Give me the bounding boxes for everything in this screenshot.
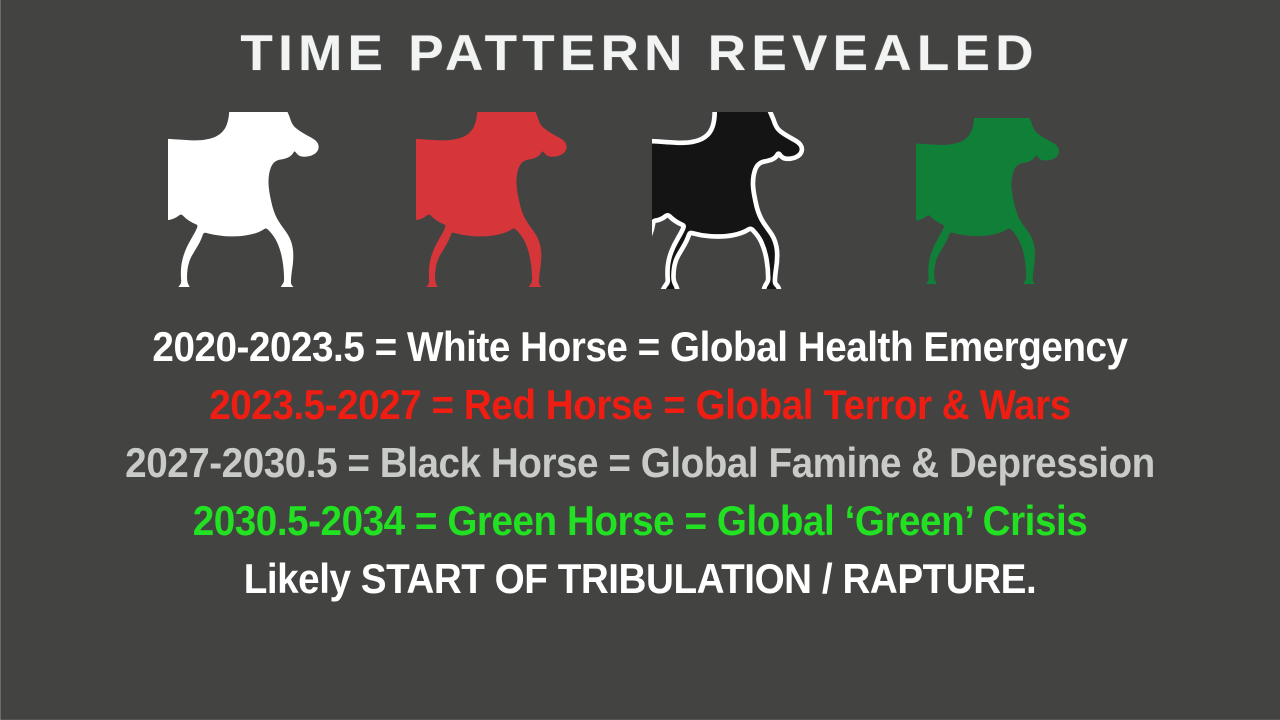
timeline-line-white-horse: 2020-2023.5 = White Horse = Global Healt… [51,318,1229,376]
page-title: TIME PATTERN REVEALED [241,26,1039,80]
timeline-line-green-horse: 2030.5-2034 = Green Horse = Global ‘Gree… [51,492,1229,550]
horse-icon [916,118,1068,284]
horse-icon [652,112,814,289]
horse-icon [416,112,576,287]
horse-illustration-row [0,112,1280,297]
timeline-line-red-horse: 2023.5-2027 = Red Horse = Global Terror … [51,376,1229,434]
slide-canvas: TIME PATTERN REVEALED 2020-2023.5 = Whit… [0,0,1280,720]
horse-icon [168,112,328,287]
green-horse-figure [916,118,1068,284]
black-horse-figure [652,112,814,289]
timeline-text-block: 2020-2023.5 = White Horse = Global Healt… [0,318,1280,608]
white-horse-figure [168,112,328,287]
title-bar: TIME PATTERN REVEALED [0,26,1280,80]
timeline-line-black-horse: 2027-2030.5 = Black Horse = Global Famin… [51,434,1229,492]
timeline-line-conclusion: Likely START OF TRIBULATION / RAPTURE. [51,550,1229,608]
red-horse-figure [416,112,576,287]
